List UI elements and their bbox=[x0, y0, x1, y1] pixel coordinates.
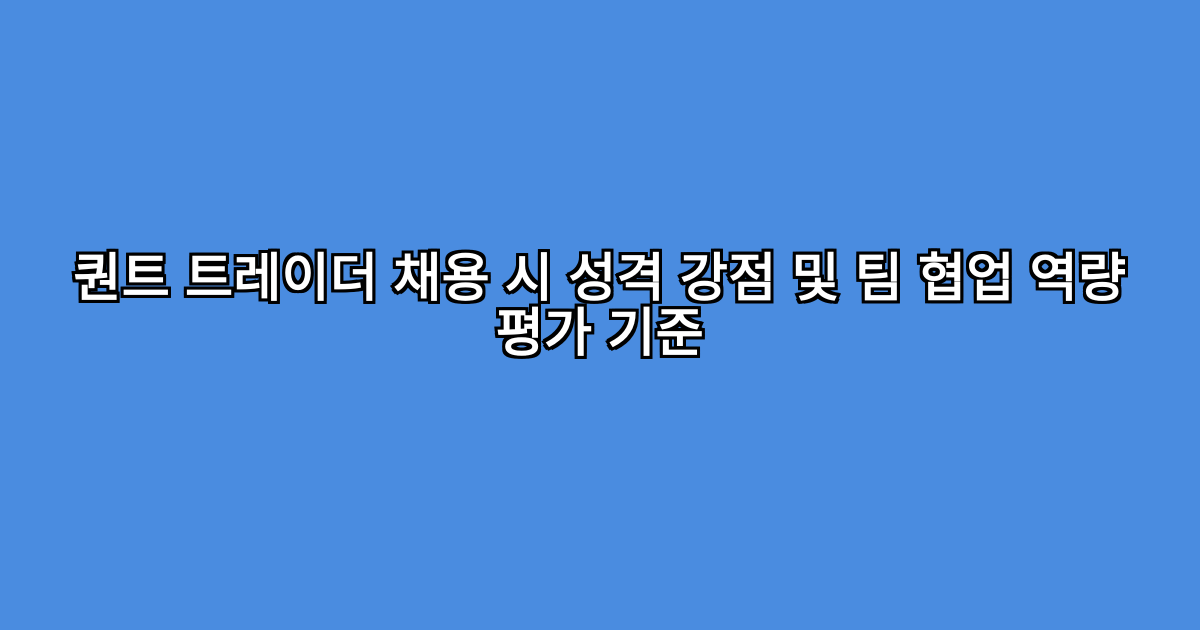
title-line-1: 퀀트 트레이더 채용 시 성격 강점 및 팀 협업 역량 bbox=[70, 252, 1130, 307]
page-title: 퀀트 트레이더 채용 시 성격 강점 및 팀 협업 역량 평가 기준 bbox=[70, 252, 1130, 362]
banner-card: 퀀트 트레이더 채용 시 성격 강점 및 팀 협업 역량 평가 기준 bbox=[0, 0, 1200, 630]
title-line-2: 평가 기준 bbox=[70, 307, 1130, 362]
